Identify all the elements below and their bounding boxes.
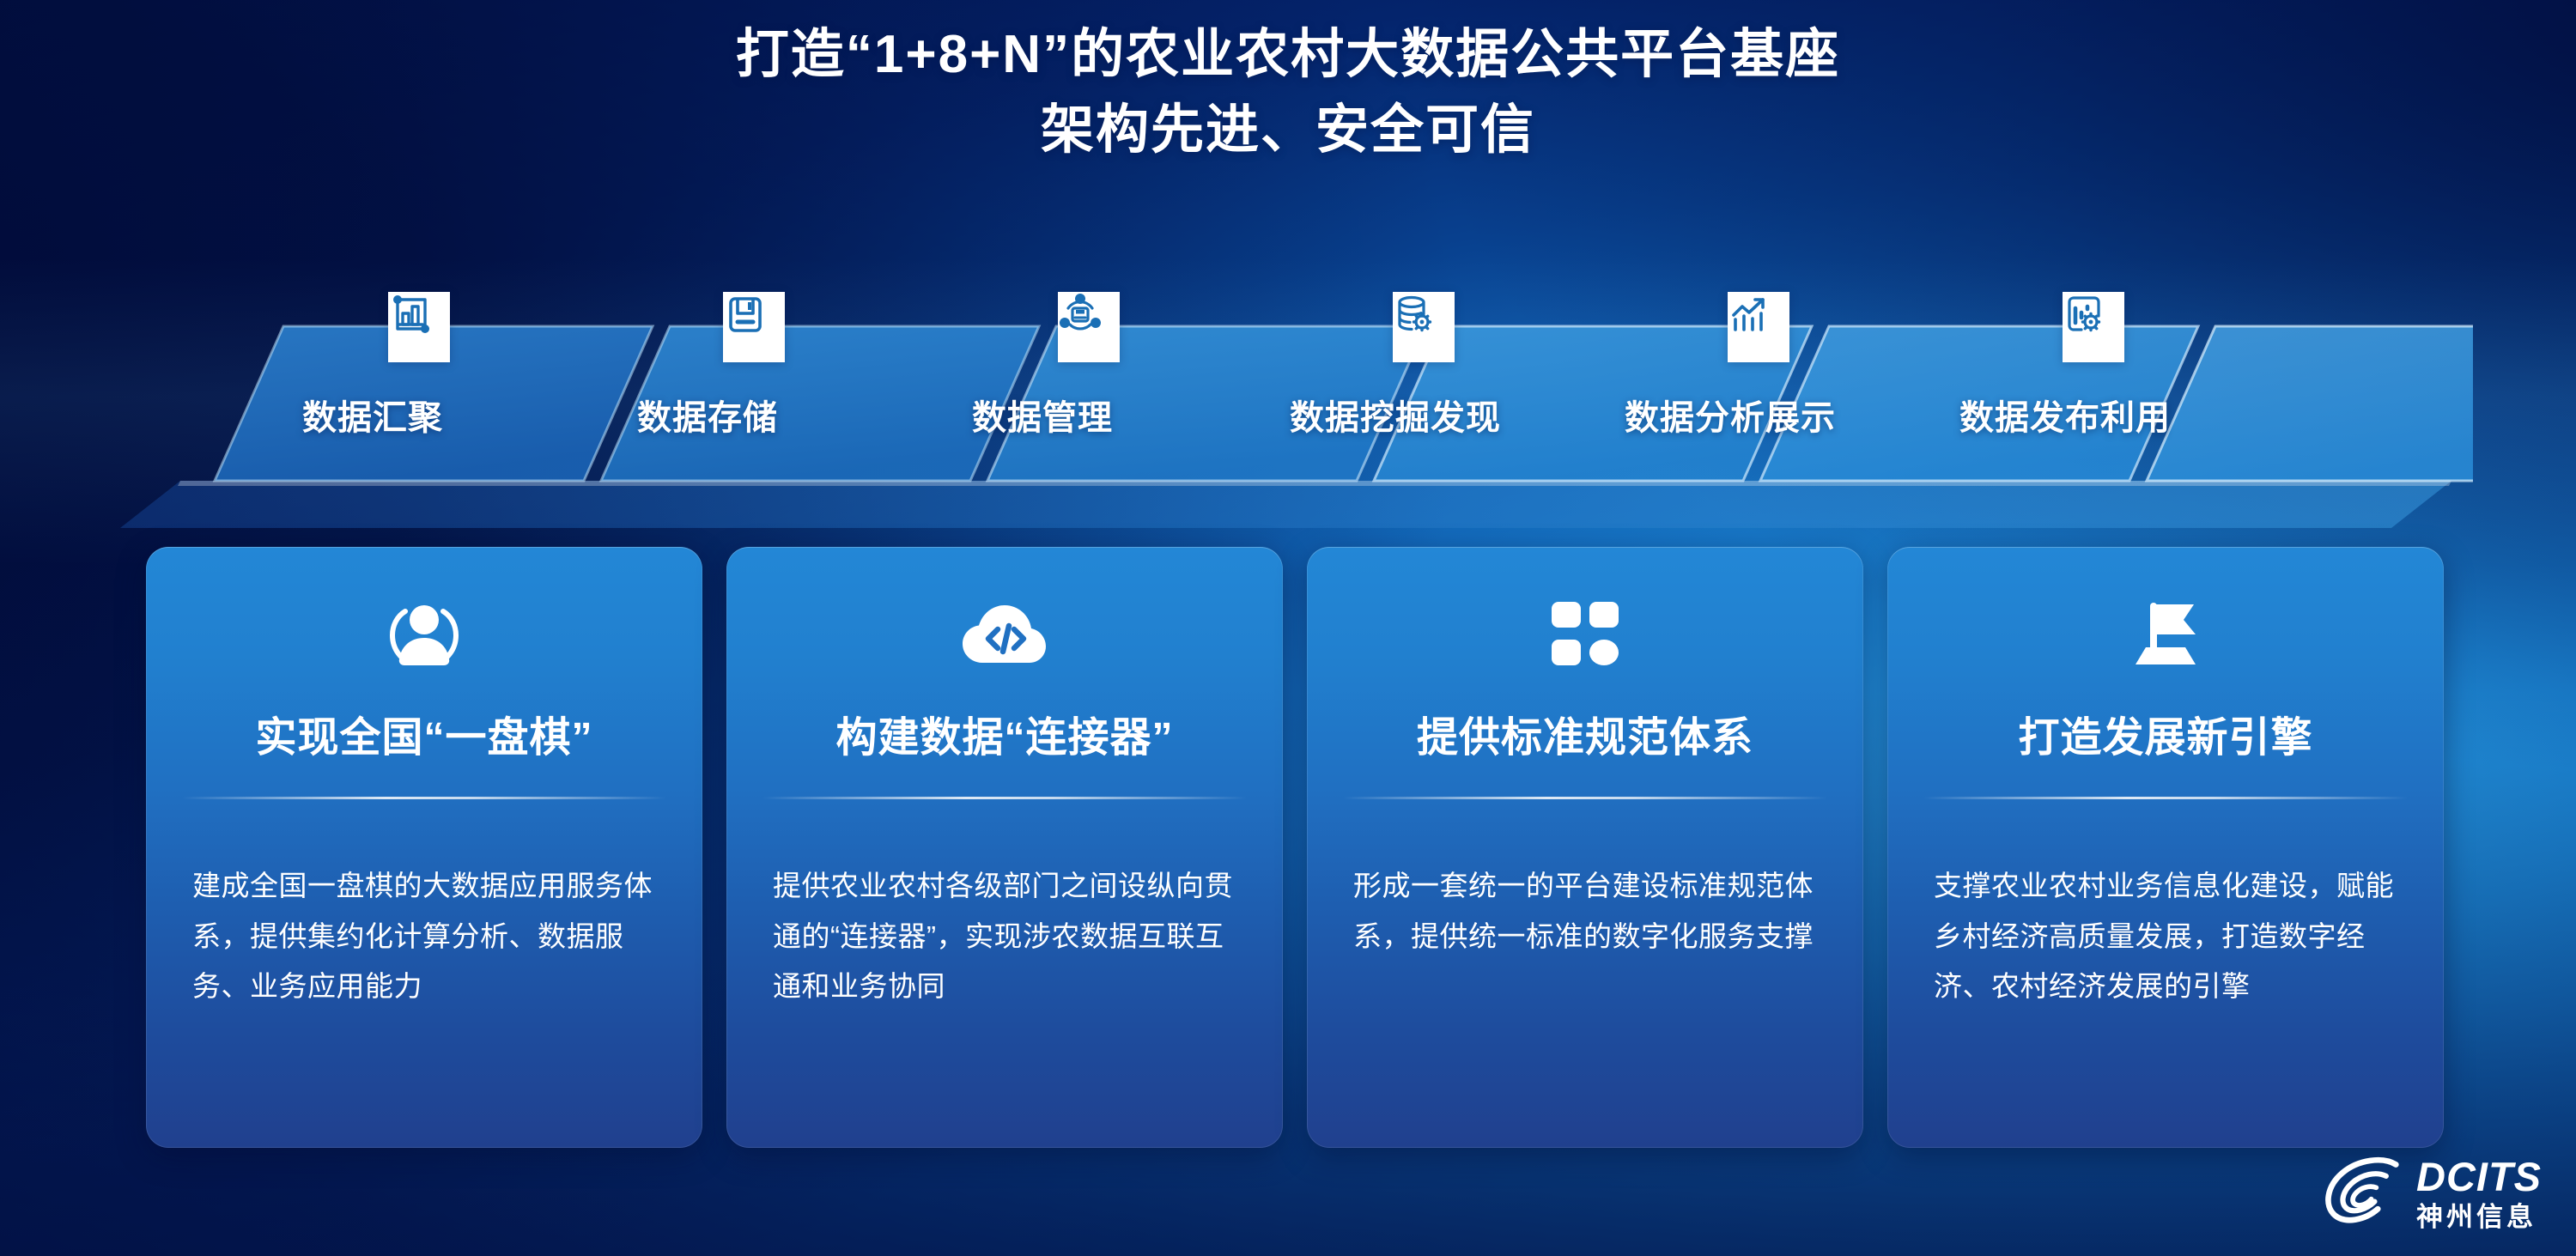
title-line-1: 打造“1+8+N”的农业农村大数据公共平台基座 xyxy=(0,17,2576,93)
feature-card-body: 提供农业农村各级部门之间设纵向贯通的“连接器”，实现涉农数据互联互通和业务协同 xyxy=(773,861,1243,1012)
feature-card-title: 构建数据“连接器” xyxy=(726,703,1283,763)
stage-label-1: 数据汇聚 xyxy=(302,390,443,440)
feature-card-1[interactable]: 实现全国“一盘棋” 建成全国一盘棋的大数据应用服务体系，提供集约化计算分析、数据… xyxy=(146,547,702,1148)
bar-chart-node-icon xyxy=(388,292,450,362)
card-divider xyxy=(1923,797,2408,799)
database-gear-icon xyxy=(1393,292,1455,362)
network-nodes-icon xyxy=(1058,292,1120,362)
trend-bar-chart-icon xyxy=(1728,292,1789,362)
four-blocks-icon xyxy=(1307,597,1863,674)
brand-logo: DCITS 神州信息 xyxy=(2322,1155,2542,1232)
card-divider xyxy=(182,797,666,799)
data-pipeline-ribbon: 数据汇聚 数据存储 数据管理 数据挖掘发现 数据分析展示 数据发布利用 xyxy=(120,283,2473,532)
report-gear-icon xyxy=(2063,292,2124,362)
flag-icon xyxy=(1887,597,2444,674)
slide-root: 打造“1+8+N”的农业农村大数据公共平台基座 架构先进、安全可信 xyxy=(0,0,2576,1256)
stage-label-5: 数据分析展示 xyxy=(1625,390,1836,440)
feature-card-list: 实现全国“一盘棋” 建成全国一盘棋的大数据应用服务体系，提供集约化计算分析、数据… xyxy=(0,547,2576,1148)
feature-card-title: 打造发展新引擎 xyxy=(1887,703,2444,763)
brand-name-cn: 神州信息 xyxy=(2416,1204,2542,1230)
card-divider xyxy=(762,797,1247,799)
stage-label-6: 数据发布利用 xyxy=(1959,390,2171,440)
brand-logo-text: DCITS 神州信息 xyxy=(2416,1156,2542,1230)
ribbon-base-slab xyxy=(120,481,2451,528)
title-line-2: 架构先进、安全可信 xyxy=(0,93,2576,168)
feature-card-body: 形成一套统一的平台建设标准规范体系，提供统一标准的数字化服务支撑 xyxy=(1353,861,1824,962)
stage-label-2: 数据存储 xyxy=(637,390,778,440)
page-title: 打造“1+8+N”的农业农村大数据公共平台基座 架构先进、安全可信 xyxy=(0,17,2576,168)
stage-plate-6 xyxy=(2147,326,2473,481)
floppy-disk-icon xyxy=(723,292,785,362)
feature-card-3[interactable]: 提供标准规范体系 形成一套统一的平台建设标准规范体系，提供统一标准的数字化服务支… xyxy=(1307,547,1863,1148)
card-divider xyxy=(1343,797,1827,799)
feature-card-title: 实现全国“一盘棋” xyxy=(146,703,702,763)
dcits-swirl-icon xyxy=(2322,1155,2404,1232)
users-group-icon xyxy=(146,597,702,674)
brand-name-en: DCITS xyxy=(2416,1156,2542,1197)
feature-card-4[interactable]: 打造发展新引擎 支撑农业农村业务信息化建设，赋能乡村经济高质量发展，打造数字经济… xyxy=(1887,547,2444,1148)
feature-card-title: 提供标准规范体系 xyxy=(1307,703,1863,763)
feature-card-body: 建成全国一盘棋的大数据应用服务体系，提供集约化计算分析、数据服务、业务应用能力 xyxy=(192,861,663,1012)
feature-card-body: 支撑农业农村业务信息化建设，赋能乡村经济高质量发展，打造数字经济、农村经济发展的… xyxy=(1934,861,2404,1012)
stage-label-3: 数据管理 xyxy=(972,390,1113,440)
stage-label-4: 数据挖掘发现 xyxy=(1290,390,1501,440)
feature-card-2[interactable]: 构建数据“连接器” 提供农业农村各级部门之间设纵向贯通的“连接器”，实现涉农数据… xyxy=(726,547,1283,1148)
cloud-code-icon xyxy=(726,597,1283,674)
